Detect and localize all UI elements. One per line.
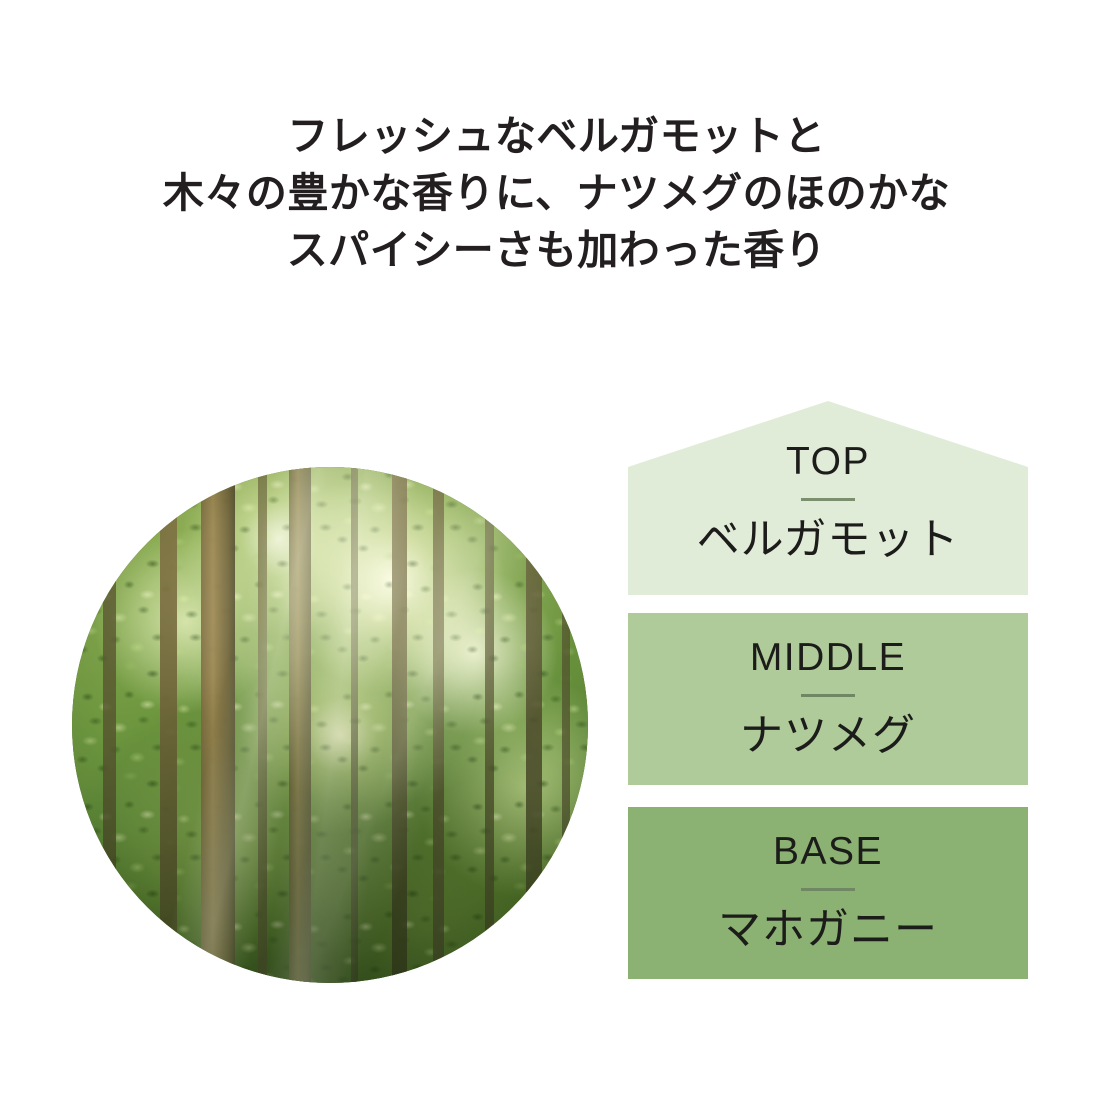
fragrance-notes-list: TOP ベルガモット MIDDLE ナツメグ BASE マホガニー (628, 401, 1028, 979)
note-name-middle: ナツメグ (628, 710, 1028, 762)
note-name-base: マホガニー (628, 904, 1028, 956)
note-divider (801, 888, 855, 891)
page-heading: フレッシュなベルガモットと 木々の豊かな香りに、ナツメグのほのかな スパイシーさ… (0, 108, 1113, 279)
note-title-base: BASE (628, 829, 1028, 875)
fragrance-notes-page: フレッシュなベルガモットと 木々の豊かな香りに、ナツメグのほのかな スパイシーさ… (0, 0, 1113, 1113)
note-title-top: TOP (628, 439, 1028, 485)
forest-circle-photo (72, 467, 588, 983)
note-card-middle: MIDDLE ナツメグ (628, 613, 1028, 785)
heading-line-3: スパイシーさも加わった香り (0, 222, 1113, 279)
heading-line-1: フレッシュなベルガモットと (0, 108, 1113, 165)
note-name-top: ベルガモット (628, 514, 1028, 566)
forest-vignette (72, 467, 588, 983)
note-title-middle: MIDDLE (628, 635, 1028, 681)
note-card-base: BASE マホガニー (628, 807, 1028, 979)
note-card-top: TOP ベルガモット (628, 401, 1028, 595)
note-divider (801, 694, 855, 697)
heading-line-2: 木々の豊かな香りに、ナツメグのほのかな (0, 165, 1113, 222)
note-divider (801, 498, 855, 501)
